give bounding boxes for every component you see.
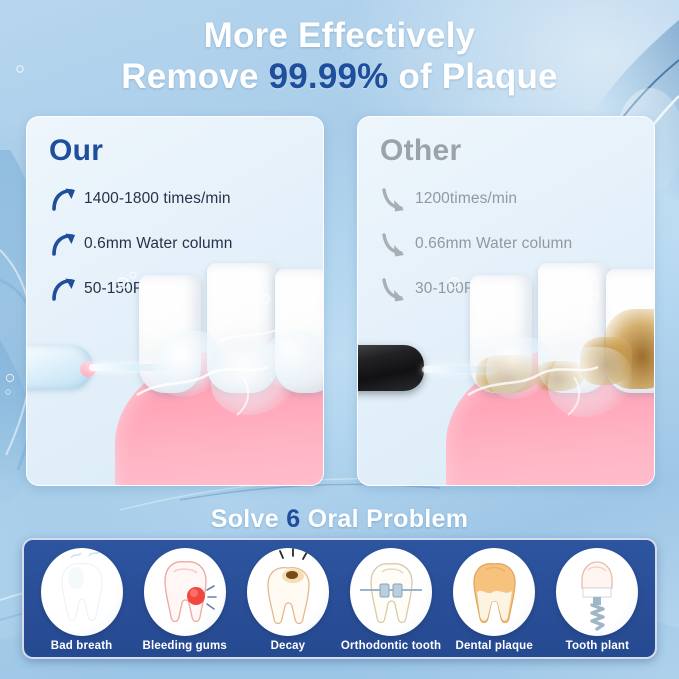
card-title-other: Other [380,134,462,168]
tooth-bleeding-gums-icon [144,548,226,636]
tooth-braces-icon [350,548,432,636]
curved-arrow-down-icon [382,186,410,212]
page-title: More Effectively Remove 99.99% of Plaque [0,17,679,95]
solve-title-post: Oral Problem [300,505,468,533]
comparison-card-our: Our 1400-1800 times/min 0.6mm Water colu… [26,116,324,486]
problem-item-bleeding-gums[interactable]: Bleeding gums [135,548,235,652]
spec-text: 1400-1800 times/min [84,190,231,208]
headline-plaque-text: of Plaque [388,57,557,96]
problem-label: Decay [271,640,306,652]
tooth-odor-icon [41,548,123,636]
spec-row: 1400-1800 times/min [51,181,313,217]
problem-label: Tooth plant [566,640,629,652]
comparison-card-other: Other 1200times/min 0.66mm Water column [357,116,655,486]
promo-image-root: More Effectively Remove 99.99% of Plaque… [0,0,679,679]
tooth-implant-icon [556,548,638,636]
problem-item-bad-breath[interactable]: Bad breath [32,548,132,652]
water-droplet-details [398,247,654,485]
curved-arrow-up-icon [51,186,79,212]
spec-text: 1200times/min [415,190,517,208]
solve-title-number: 6 [286,505,300,533]
spec-row: 1200times/min [382,181,644,217]
card-title-our: Our [49,134,103,168]
solve-title-pre: Solve [211,505,286,533]
headline-percentage: 99.99% [269,57,389,96]
scene-clean-teeth [27,247,323,485]
problem-label: Bad breath [51,640,113,652]
problem-label: Orthodontic tooth [341,640,441,652]
problem-item-orthodontic-tooth[interactable]: Orthodontic tooth [341,548,441,652]
solve-section-title: Solve 6 Oral Problem [0,505,679,534]
tooth-decay-icon [247,548,329,636]
water-droplet-details [67,247,323,485]
problem-label: Bleeding gums [143,640,227,652]
scene-plaque-teeth [358,247,654,485]
problem-item-dental-plaque[interactable]: Dental plaque [444,548,544,652]
headline-remove-text: Remove [121,57,268,96]
problem-item-decay[interactable]: Decay [238,548,338,652]
headline-line-2: Remove 99.99% of Plaque [0,58,679,95]
oral-problems-panel: Bad breath Bleeding gums [22,538,657,659]
problem-item-tooth-plant[interactable]: Tooth plant [547,548,647,652]
problem-label: Dental plaque [456,640,533,652]
headline-line-1: More Effectively [0,17,679,54]
tooth-plaque-icon [453,548,535,636]
